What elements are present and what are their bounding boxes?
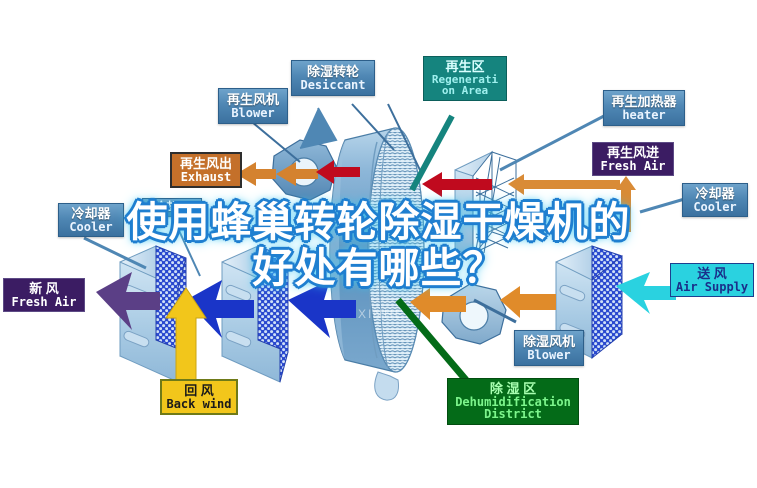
label-regen-area-cn: 再生区 <box>428 60 502 74</box>
label-air-supply[interactable]: 送 风 Air Supply <box>670 263 754 297</box>
diagram-artwork: XINHE <box>0 0 757 488</box>
label-fresh-air-cn: 新 风 <box>8 282 80 296</box>
label-heater-cn: 再生加热器 <box>609 95 679 109</box>
label-regen-exhaust[interactable]: 再生风出 Exhaust <box>170 152 242 188</box>
diagram-canvas: XINHE 除湿转轮 Desiccant 再生风机 Blower 再生风出 Ex… <box>0 0 757 488</box>
label-fresh-air[interactable]: 新 风 Fresh Air <box>3 278 85 312</box>
label-cooler-left-cn: 冷却器 <box>63 207 119 221</box>
dehum-blower-housing <box>442 284 506 344</box>
label-regen-fresh-air[interactable]: 再生风进 Fresh Air <box>592 142 674 176</box>
label-cooler-left-a[interactable]: 冷却器 Cooler <box>58 203 124 237</box>
label-regen-blower-cn: 再生风机 <box>224 93 282 107</box>
label-regen-blower-en: Blower <box>224 107 282 120</box>
label-regen-area[interactable]: 再生区 Regenerati on Area <box>423 56 507 101</box>
label-dehum-district[interactable]: 除 湿 区 Dehumidification District <box>447 378 579 425</box>
label-desiccant-en: Desiccant <box>297 79 369 92</box>
label-air-supply-en: Air Supply <box>675 281 749 294</box>
label-dehum-cn: 除 湿 区 <box>452 382 574 396</box>
label-exhaust-en: Exhaust <box>176 171 236 184</box>
label-cooler-left-en: Cooler <box>63 221 119 234</box>
label-fresh-air-en: Fresh Air <box>8 296 80 309</box>
label-cooler-right-en: Cooler <box>687 201 743 214</box>
label-regen-area-en2: on Area <box>428 85 502 97</box>
label-dehum-blower-cn: 除湿风机 <box>520 335 578 349</box>
label-cooler-left2-cn: 冷却器 <box>147 201 197 214</box>
label-regen-blower[interactable]: 再生风机 Blower <box>218 88 288 124</box>
label-back-wind[interactable]: 回 风 Back wind <box>160 379 238 415</box>
label-cooler-left-b[interactable]: 冷却器 <box>142 198 202 217</box>
label-desiccant-cn: 除湿转轮 <box>297 65 369 79</box>
arrow-dehum-2 <box>500 286 556 318</box>
label-back-wind-cn: 回 风 <box>166 384 232 398</box>
label-regen-fresh-en: Fresh Air <box>597 160 669 173</box>
label-regen-fresh-cn: 再生风进 <box>597 146 669 160</box>
label-desiccant-rotor[interactable]: 除湿转轮 Desiccant <box>291 60 375 96</box>
arrow-regen-fresh-in <box>508 174 636 232</box>
label-cooler-right-cn: 冷却器 <box>687 187 743 201</box>
label-exhaust-cn: 再生风出 <box>176 157 236 171</box>
label-air-supply-cn: 送 风 <box>675 267 749 281</box>
label-dehum-blower-en: Blower <box>520 349 578 362</box>
label-dehum-en2: District <box>452 408 574 421</box>
label-dehum-blower[interactable]: 除湿风机 Blower <box>514 330 584 366</box>
arrow-air-supply <box>616 272 676 314</box>
label-regen-heater[interactable]: 再生加热器 heater <box>603 90 685 126</box>
label-cooler-right[interactable]: 冷却器 Cooler <box>682 183 748 217</box>
watermark-text: XINHE <box>358 307 405 321</box>
label-heater-en: heater <box>609 109 679 122</box>
label-back-wind-en: Back wind <box>166 398 232 411</box>
